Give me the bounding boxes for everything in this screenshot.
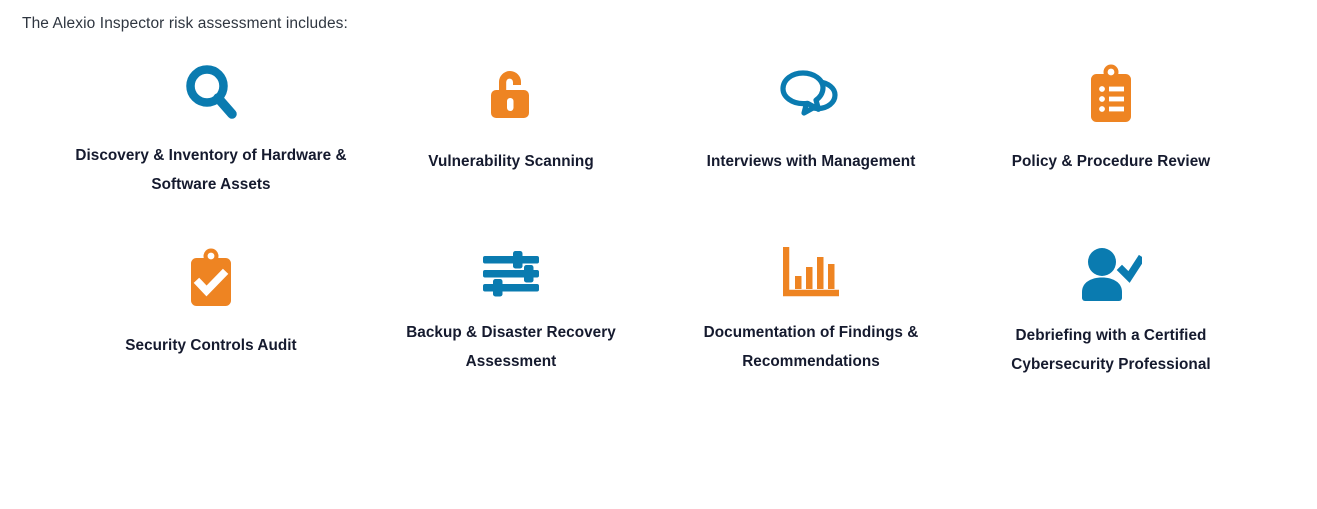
magnifying-glass-icon — [182, 62, 240, 122]
intro-text: The Alexio Inspector risk assessment inc… — [22, 13, 348, 35]
feature-item-policy-procedure-review: Policy & Procedure Review — [961, 62, 1261, 184]
features-row-2: Security Controls Audit Backup & Disaste… — [0, 246, 1317, 376]
features-row-1: Discovery & Inventory of Hardware & Soft… — [0, 62, 1317, 184]
feature-item-documentation-findings: Documentation of Findings & Recommendati… — [661, 246, 961, 376]
feature-label: Vulnerability Scanning — [428, 147, 593, 176]
feature-label: Debriefing with a Certified Cybersecurit… — [969, 321, 1253, 379]
feature-label: Interviews with Management — [707, 147, 916, 176]
feature-item-vulnerability-scanning: Vulnerability Scanning — [361, 62, 661, 184]
feature-label: Policy & Procedure Review — [1012, 147, 1211, 176]
feature-item-discovery-inventory: Discovery & Inventory of Hardware & Soft… — [61, 62, 361, 184]
user-check-icon — [1080, 246, 1142, 302]
open-padlock-icon — [486, 62, 536, 128]
feature-item-interviews-management: Interviews with Management — [661, 62, 961, 184]
features-grid: Discovery & Inventory of Hardware & Soft… — [0, 62, 1317, 376]
bar-chart-icon — [783, 246, 839, 299]
feature-item-backup-disaster-recovery: Backup & Disaster Recovery Assessment — [361, 246, 661, 376]
clipboard-check-icon — [187, 246, 235, 312]
feature-label: Backup & Disaster Recovery Assessment — [369, 318, 653, 376]
feature-label: Security Controls Audit — [125, 331, 296, 360]
sliders-icon — [480, 246, 542, 299]
feature-item-debriefing-professional: Debriefing with a Certified Cybersecurit… — [961, 246, 1261, 376]
speech-bubbles-icon — [779, 62, 843, 128]
feature-label: Documentation of Findings & Recommendati… — [669, 318, 953, 376]
feature-item-security-controls-audit: Security Controls Audit — [61, 246, 361, 376]
feature-label: Discovery & Inventory of Hardware & Soft… — [69, 141, 353, 199]
clipboard-list-icon — [1087, 62, 1135, 128]
